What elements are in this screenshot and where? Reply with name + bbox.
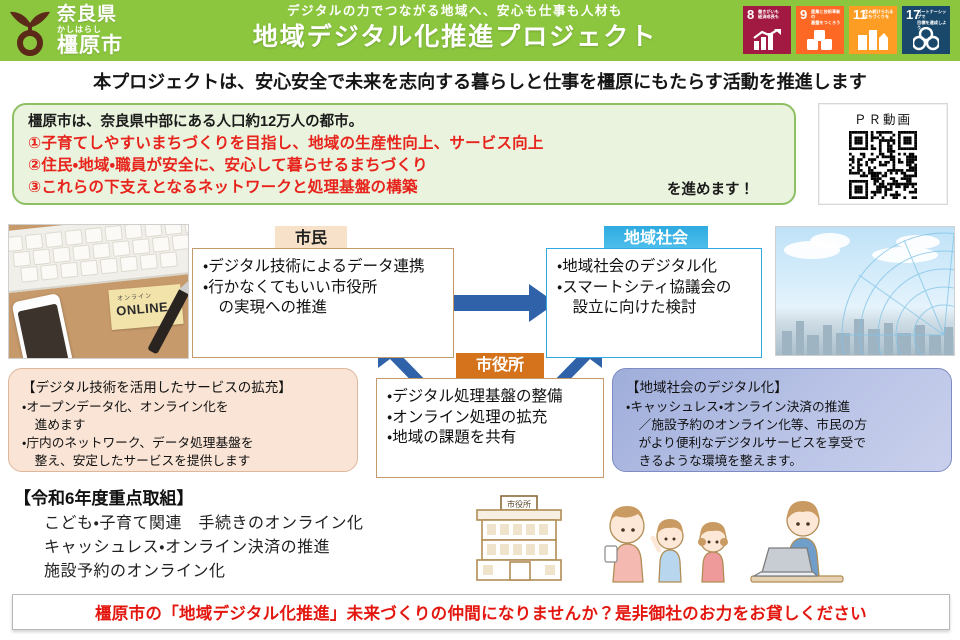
citizen-line-1: ・デジタル技術によるデータ連携 (203, 257, 443, 278)
note-left-line-1: ・オープンデータ化、オンライン化を (22, 398, 346, 416)
citizen-box: ・デジタル技術によるデータ連携 ・行かなくてもいい市役所 の実現への推進 (192, 248, 454, 358)
keyboard-illustration (8, 224, 189, 293)
note-left-line-2: 進めます (22, 416, 346, 434)
note-service-expansion: 【デジタル技術を活用したサービスの拡充】 ・オープンデータ化、オンライン化を 進… (8, 368, 358, 472)
growth-chart-icon (752, 29, 782, 51)
summary-item-3: ③これらの下支えとなるネットワークと処理基盤の構築 (28, 177, 418, 199)
qr-label: ＰＲ動画 (854, 109, 912, 128)
sdg-icon-row: 8 働きがいも 経済成長も 9 産業と技術革新の 基盤をつくろう 11 住み続け… (743, 6, 950, 54)
priority-item: こども・子育て関連 手続きのオンライン化 (44, 512, 474, 536)
smartphone-illustration (11, 293, 74, 359)
woman-with-phone-illustration (605, 506, 644, 582)
note-left-line-4: 整え、安定したサービスを提供します (22, 452, 346, 470)
city-buildings-icon (857, 29, 889, 51)
sdg-icon-8: 8 働きがいも 経済成長も (743, 6, 791, 54)
priority-heading: 【令和6年度重点取組】 (14, 484, 193, 509)
header-main-title: 地域デジタル化推進プロジェクト (195, 22, 715, 52)
community-box: ・地域社会のデジタル化 ・スマートシティ協議会の 設立に向けた検討 (546, 248, 762, 358)
community-line-1: ・地域社会のデジタル化 (557, 257, 751, 278)
summary-item-1: ①子育てしやすいまちづくりを目指し、地域の生産性向上、サービス向上 (28, 133, 782, 155)
sdg-number: 9 (800, 8, 807, 21)
sdg-caption: 働きがいも 経済成長も (758, 9, 789, 20)
note-left-title: 【デジタル技術を活用したサービスの拡充】 (22, 378, 346, 398)
sticky-note-text: ONLINE (116, 299, 169, 318)
summary-tail: を進めます！ (667, 178, 782, 199)
city-name-kana: かしはらし (57, 26, 123, 34)
cubes-icon (805, 29, 835, 51)
note-right-line-1: ・キャッシュレス・オンライン決済の推進 (626, 398, 940, 416)
pr-video-qr-panel[interactable]: ＰＲ動画 (818, 103, 948, 205)
cityhall-tab: 市役所 (456, 353, 544, 380)
prefecture-name: 奈良県 (57, 5, 123, 24)
sdg-caption: 住み続けられる まちづくりを (864, 9, 895, 20)
illustration-group: 市役所 (455, 484, 895, 584)
cityhall-line-3: ・地域の課題を共有 (387, 428, 593, 449)
lead-statement: 本プロジェクトは、安心安全で未来を志向する暮らしと仕事を橿原にもたらす活動を推進… (0, 68, 960, 94)
citizen-line-2: ・行かなくてもいい市役所 (203, 278, 443, 299)
kashihara-crest-icon (8, 6, 54, 56)
community-line-2: ・スマートシティ協議会の (557, 278, 751, 299)
sdg-icon-9: 9 産業と技術革新の 基盤をつくろう (796, 6, 844, 54)
note-right-line-4: きるような環境を整えます。 (626, 452, 940, 470)
summary-panel: 橿原市は、奈良県中部にある人口約12万人の都市。 ①子育てしやすいまちづくりを目… (12, 103, 796, 205)
summary-item-2: ②住民・地域・職員が安全に、安心して暮らせるまちづくり (28, 155, 782, 177)
qr-code-icon[interactable] (849, 131, 917, 199)
sdg-number: 8 (747, 8, 754, 21)
boy-illustration (653, 519, 683, 582)
concept-diagram: オンライン ONLINE (0, 212, 960, 480)
network-waves-icon (824, 226, 955, 356)
note-left-line-3: ・庁内のネットワーク、データ処理基盤を (22, 434, 346, 452)
cityhall-sign-text: 市役所 (507, 499, 531, 509)
header-subtitle: デジタルの力でつながる地域へ、安心も仕事も人材も (195, 3, 715, 21)
photo-online-desk: オンライン ONLINE (8, 224, 189, 359)
community-line-3: 設立に向けた検討 (557, 298, 751, 319)
summary-last-row: ③これらの下支えとなるネットワークと処理基盤の構築 を進めます！ (28, 177, 782, 199)
call-to-action-banner[interactable]: 橿原市の「地域デジタル化推進」未来づくりの仲間になりませんか？是非御社のお力をお… (12, 594, 950, 630)
banner-text: 橿原市の「地域デジタル化推進」未来づくりの仲間になりませんか？是非御社のお力をお… (95, 600, 867, 624)
girl-illustration (698, 522, 728, 582)
note-right-line-3: がより便利なデジタルサービスを享受で (626, 434, 940, 452)
sdg-caption: 産業と技術革新の 基盤をつくろう (811, 9, 842, 25)
page-header: 奈良県 かしはらし 橿原市 デジタルの力でつながる地域へ、安心も仕事も人材も 地… (0, 0, 960, 61)
city-name-block: 奈良県 かしはらし 橿原市 (57, 5, 123, 56)
priority-item: 施設予約のオンライン化 (44, 560, 474, 584)
man-with-laptop-illustration (751, 501, 843, 582)
city-logo: 奈良県 かしはらし 橿原市 (8, 2, 178, 59)
priority-list: こども・子育て関連 手続きのオンライン化 キャッシュレス・オンライン決済の推進 … (44, 512, 474, 584)
cityhall-line-1: ・デジタル処理基盤の整備 (387, 387, 593, 408)
note-community-digitalization: 【地域社会のデジタル化】 ・キャッシュレス・オンライン決済の推進 ／施設予約のオ… (612, 368, 952, 472)
sdg-icon-17: 17 パートナーシップで 目標を達成しよう (902, 6, 950, 54)
summary-intro: 橿原市は、奈良県中部にある人口約12万人の都市。 (28, 112, 782, 133)
note-right-line-2: ／施設予約のオンライン化等、市民の方 (626, 416, 940, 434)
header-title-block: デジタルの力でつながる地域へ、安心も仕事も人材も 地域デジタル化推進プロジェクト (195, 3, 715, 52)
citizen-line-3: の実現への推進 (203, 298, 443, 319)
sdg-icon-11: 11 住み続けられる まちづくりを (849, 6, 897, 54)
city-name: 橿原市 (57, 35, 123, 56)
cityhall-building-illustration: 市役所 (477, 496, 561, 580)
cityhall-box: ・デジタル処理基盤の整備 ・オンライン処理の拡充 ・地域の課題を共有 (376, 378, 604, 478)
photo-smart-city (775, 226, 955, 356)
partnership-circles-icon (913, 27, 939, 51)
cityhall-line-2: ・オンライン処理の拡充 (387, 408, 593, 429)
priority-item: キャッシュレス・オンライン決済の推進 (44, 536, 474, 560)
note-right-title: 【地域社会のデジタル化】 (626, 378, 940, 398)
